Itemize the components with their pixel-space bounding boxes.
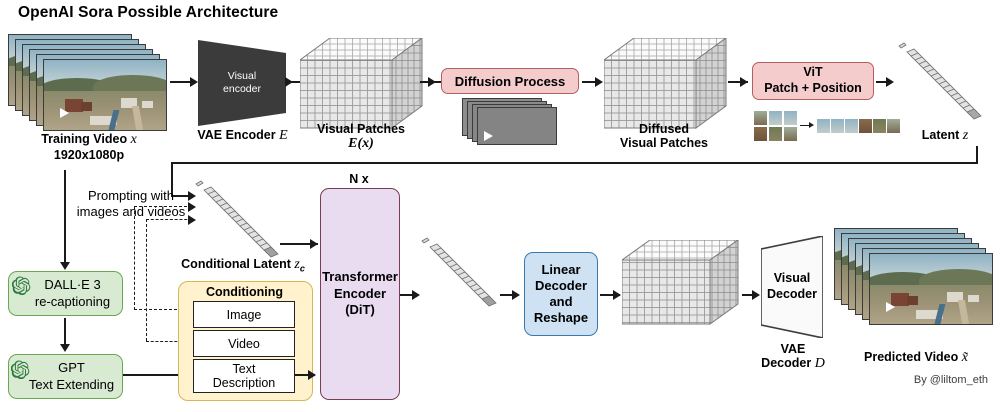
routing-line-horizontal <box>171 162 978 164</box>
video-frame-front <box>869 253 993 325</box>
dashed-line-video <box>146 219 192 220</box>
noisy-frames-stack <box>462 98 572 146</box>
latent-caption: Latent z <box>900 128 990 144</box>
arrow-head <box>886 77 894 87</box>
dashed-riser-image <box>134 206 135 310</box>
transformer-encoder-box[interactable]: Transformer Encoder (DiT) <box>320 188 400 400</box>
transformer-line2: Encoder <box>334 286 386 303</box>
predicted-video-stack <box>834 228 994 348</box>
dalle3-line2: re-captioning <box>35 294 110 310</box>
conditional-latent-caption: Conditional Latent zc <box>148 257 338 274</box>
latent-token-strip <box>418 235 518 335</box>
visual-decoder-caption: VAE Decoder D <box>750 342 836 372</box>
credit-label: By @liltom_eth <box>914 374 988 386</box>
latent-sequence <box>895 40 995 132</box>
gpt-line1: GPT <box>58 360 85 376</box>
transformer-line1: Transformer <box>322 269 398 286</box>
conditioning-video-label: Video <box>228 337 260 351</box>
arrow-head-small <box>809 122 814 128</box>
arrow-head <box>613 290 621 300</box>
conditioning-title: Conditioning <box>178 285 311 299</box>
gpt-line2: Text Extending <box>29 377 114 393</box>
linear-decoder-line3: and <box>549 294 572 310</box>
training-video-stack <box>8 34 168 130</box>
prompting-note: Prompting with images and videos <box>56 188 206 219</box>
training-video-caption: Training Video x 1920x1080p <box>14 132 164 162</box>
diffusion-process-label: Diffusion Process <box>455 74 566 89</box>
vae-encoder-line2: encoder <box>223 83 261 95</box>
play-icon <box>484 131 493 141</box>
arrow-head <box>190 77 198 87</box>
openai-logo-icon <box>11 360 30 379</box>
vit-box[interactable]: ViT Patch + Position <box>752 62 874 100</box>
transformer-repeat-label: N x <box>318 172 400 186</box>
openai-logo-icon <box>12 276 31 295</box>
video-frame-front <box>43 59 167 131</box>
conditioning-item-video[interactable]: Video <box>193 330 295 357</box>
play-icon <box>886 302 895 312</box>
dalle3-line1: DALL·E 3 <box>44 277 100 293</box>
voxel-grid <box>622 240 742 326</box>
play-icon <box>60 108 69 118</box>
page-title: OpenAI Sora Possible Architecture <box>18 4 278 22</box>
visual-decoder-line1: Visual <box>774 271 811 285</box>
diffused-patches-cube <box>604 38 732 130</box>
arrow-line <box>170 81 192 83</box>
voxel-grid <box>300 38 428 130</box>
linear-decoder-box[interactable]: Linear Decoder and Reshape <box>524 252 598 336</box>
vae-encoder-caption: VAE Encoder E <box>190 128 295 144</box>
linear-decoder-line1: Linear <box>541 262 580 278</box>
visual-patches-caption: Visual Patches E(x) <box>296 122 426 152</box>
diffusion-process-box[interactable]: Diffusion Process <box>441 68 579 94</box>
vit-label-line2: Patch + Position <box>764 81 862 97</box>
diffused-patches-caption: Diffused Visual Patches <box>598 122 730 151</box>
dashed-line-video-bottom <box>146 341 182 342</box>
transformer-line3: (DiT) <box>345 302 375 319</box>
visual-patches-cube <box>300 38 428 130</box>
dalle-to-gpt-line <box>64 318 66 346</box>
linear-decoder-line2: Decoder <box>535 278 587 294</box>
arrow-head <box>740 77 748 87</box>
conditioning-item-image[interactable]: Image <box>193 301 295 328</box>
conditioning-image-label: Image <box>227 308 262 322</box>
latent-token-strip <box>895 40 995 132</box>
arrow-head <box>310 239 318 249</box>
vae-encoder-block: Visual encoder <box>198 40 286 126</box>
visual-decoder-line2: Decoder <box>767 287 817 301</box>
output-latent-sequence <box>418 235 518 335</box>
predicted-video-caption: Predicted Video x̃ <box>840 350 992 366</box>
vae-encoder-line1: Visual <box>228 70 256 82</box>
arrow-head <box>512 290 520 300</box>
dashed-line-image <box>134 206 192 207</box>
arrow-head <box>752 290 760 300</box>
vit-label-line1: ViT <box>803 65 822 81</box>
video-to-dalle-line <box>64 170 66 264</box>
voxel-grid <box>604 38 732 130</box>
visual-decoder-block: Visual Decoder <box>761 236 823 338</box>
arrow-head <box>285 77 293 87</box>
arrow-head <box>428 77 436 87</box>
arrow-head-down <box>60 262 70 270</box>
arrow-head-dashed <box>188 202 196 212</box>
conditioning-text-line1: Text <box>233 362 256 376</box>
conditioning-text-line2: Description <box>213 376 276 390</box>
output-patches-cube <box>622 240 742 326</box>
arrow-head-dashed <box>188 215 196 225</box>
patch-grid <box>753 110 799 142</box>
dashed-riser-video <box>146 219 147 341</box>
arrow-head <box>308 370 316 380</box>
linear-decoder-line4: Reshape <box>534 310 588 326</box>
patch-sequence <box>816 118 896 134</box>
arrow-head <box>595 77 603 87</box>
conditioning-item-text[interactable]: Text Description <box>193 359 295 393</box>
dashed-line-image-bottom <box>134 309 182 310</box>
arrow-head-down <box>60 344 70 352</box>
